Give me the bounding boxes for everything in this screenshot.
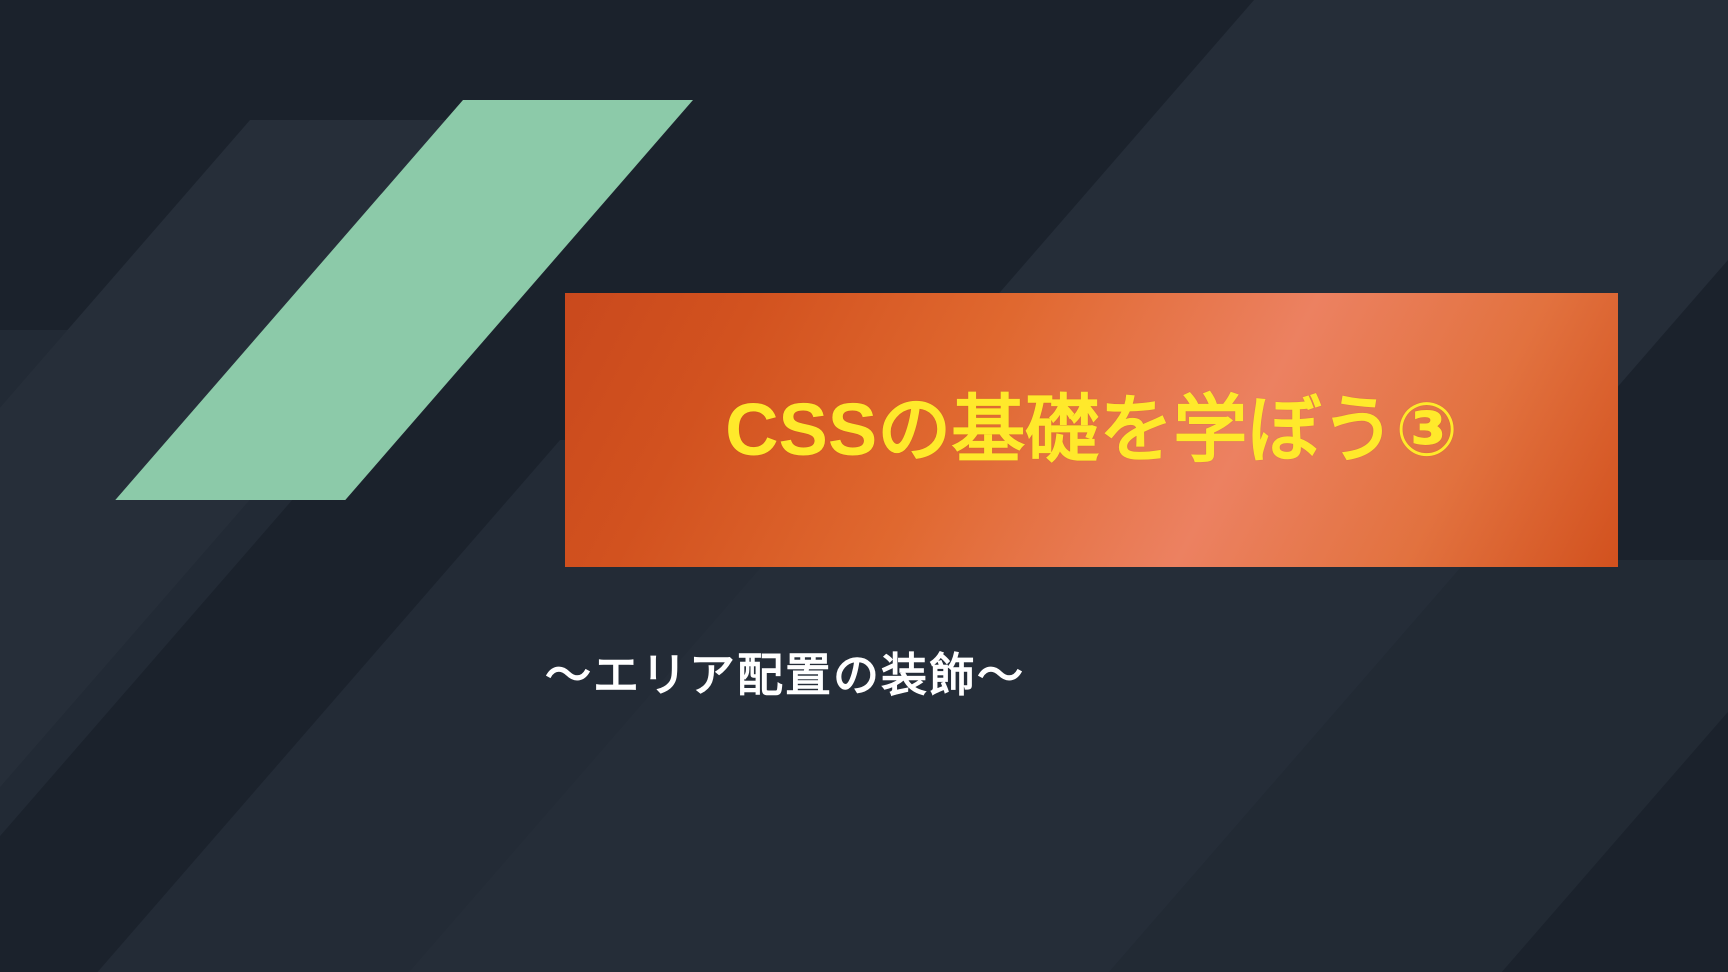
background-diagonal-band-right [631, 560, 1728, 972]
slide-subtitle: 〜エリア配置の装飾〜 [0, 648, 1570, 703]
title-banner: CSSの基礎を学ぼう③ [565, 293, 1618, 567]
slide-title: CSSの基礎を学ぼう③ [725, 393, 1458, 467]
presentation-slide: CSSの基礎を学ぼう③ 〜エリア配置の装飾〜 [0, 0, 1728, 972]
